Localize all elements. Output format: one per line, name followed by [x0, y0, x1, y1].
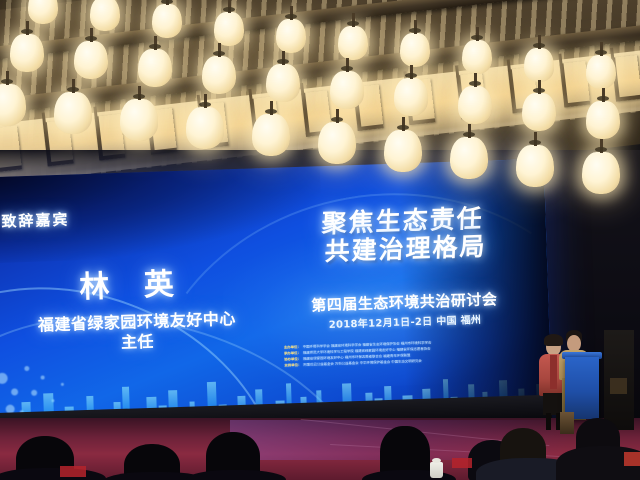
pendant-lamp	[384, 130, 422, 172]
pendant-lamp-cap	[597, 96, 609, 101]
pendant-lamp-cap	[397, 125, 409, 130]
led-screen-surface: 致辞嘉宾 林 英 福建省绿家园环境友好中心 主任 聚焦生态责任 共建治理格局 第…	[0, 159, 552, 429]
pendant-lamp	[318, 122, 356, 164]
pendant-lamp	[54, 92, 92, 134]
audience-shoulders	[186, 470, 286, 480]
credits-key: 协办单位：	[284, 357, 301, 362]
credits-key: 主办单位：	[284, 345, 301, 350]
speaker-woman-scarf	[550, 355, 557, 389]
pendant-lamp-cap	[469, 81, 481, 86]
pendant-lamp-cap	[341, 66, 353, 71]
event-title: 聚焦生态责任 共建治理格局	[277, 203, 527, 267]
pendant-lamp	[186, 107, 224, 149]
stage-speaker-panel	[610, 378, 627, 394]
pendant-lamp	[462, 40, 492, 74]
pendant-lamp-cap	[595, 50, 607, 55]
pendant-lamp	[516, 145, 554, 187]
led-screen: 致辞嘉宾 林 英 福建省绿家园环境友好中心 主任 聚焦生态责任 共建治理格局 第…	[0, 159, 552, 429]
credits-key: 承办单位：	[284, 351, 301, 356]
pendant-lamp	[450, 137, 488, 179]
pendant-lamp	[400, 33, 430, 67]
water-cup	[430, 462, 443, 478]
pendant-lamp-cap	[21, 29, 33, 34]
pendant-lamp	[90, 0, 120, 31]
speaker-woman-leg	[546, 413, 551, 430]
pendant-lamp	[276, 19, 306, 53]
table-card	[624, 452, 640, 466]
pendant-lamp	[0, 84, 26, 126]
pendant-lamp-cap	[199, 102, 211, 107]
pendant-lamp	[338, 26, 368, 60]
pendant-lamp-cap	[533, 43, 545, 48]
pendant-lamp-cap	[277, 59, 289, 64]
pendant-lamp	[266, 64, 300, 102]
pendant-lamp-cap	[347, 21, 359, 26]
pendant-lamp	[214, 12, 244, 46]
guest-label: 致辞嘉宾	[1, 209, 70, 232]
pendant-lamp-cap	[67, 87, 79, 92]
screen-right-shadow	[398, 159, 552, 416]
pendant-lamp	[202, 56, 236, 94]
pendant-lamp-cap	[213, 51, 225, 56]
pendant-lamp-cap	[85, 36, 97, 41]
pendant-lamp-cap	[595, 147, 607, 152]
pendant-lamp-cap	[1, 79, 13, 84]
pendant-lamp-cap	[133, 94, 145, 99]
table-card	[452, 458, 472, 468]
pendant-lamp-cap	[533, 88, 545, 93]
pendant-lamp	[28, 0, 58, 24]
pendant-lamp-cap	[149, 44, 161, 49]
pendant-lamp-cap	[463, 132, 475, 137]
pendant-lamp	[252, 114, 290, 156]
pendant-lamp-cap	[529, 140, 541, 145]
pendant-lamp	[120, 99, 158, 141]
podium-base	[560, 412, 574, 434]
speaker-woman-hair	[544, 334, 563, 346]
pendant-lamp-cap	[265, 109, 277, 114]
conference-photo-scene: 致辞嘉宾 林 英 福建省绿家园环境友好中心 主任 聚焦生态责任 共建治理格局 第…	[0, 0, 640, 480]
pendant-lamp-cap	[331, 117, 343, 122]
pendant-lamp	[394, 78, 428, 116]
pendant-lamp-cap	[161, 0, 173, 4]
pendant-lamp	[524, 48, 554, 82]
pendant-lamp	[152, 4, 182, 38]
pendant-lamp	[458, 86, 492, 124]
pendant-lamp-cap	[223, 7, 235, 12]
audience-shoulders	[0, 468, 106, 480]
pendant-lamp	[582, 152, 620, 194]
pendant-lamp	[586, 101, 620, 139]
pendant-lamp	[522, 93, 556, 131]
pendant-lamp	[330, 71, 364, 109]
pendant-lamp-cap	[409, 28, 421, 33]
pendant-lamp-cap	[405, 73, 417, 78]
pendant-lamp	[74, 41, 108, 79]
pendant-lamp	[138, 49, 172, 87]
credits-key: 支持单位：	[284, 363, 301, 368]
pendant-lamp-cap	[285, 14, 297, 19]
pendant-lamp	[586, 55, 616, 89]
table-card	[60, 466, 86, 477]
podium	[565, 357, 599, 419]
pendant-lamp-cap	[471, 35, 483, 40]
pendant-lamp	[10, 34, 44, 72]
